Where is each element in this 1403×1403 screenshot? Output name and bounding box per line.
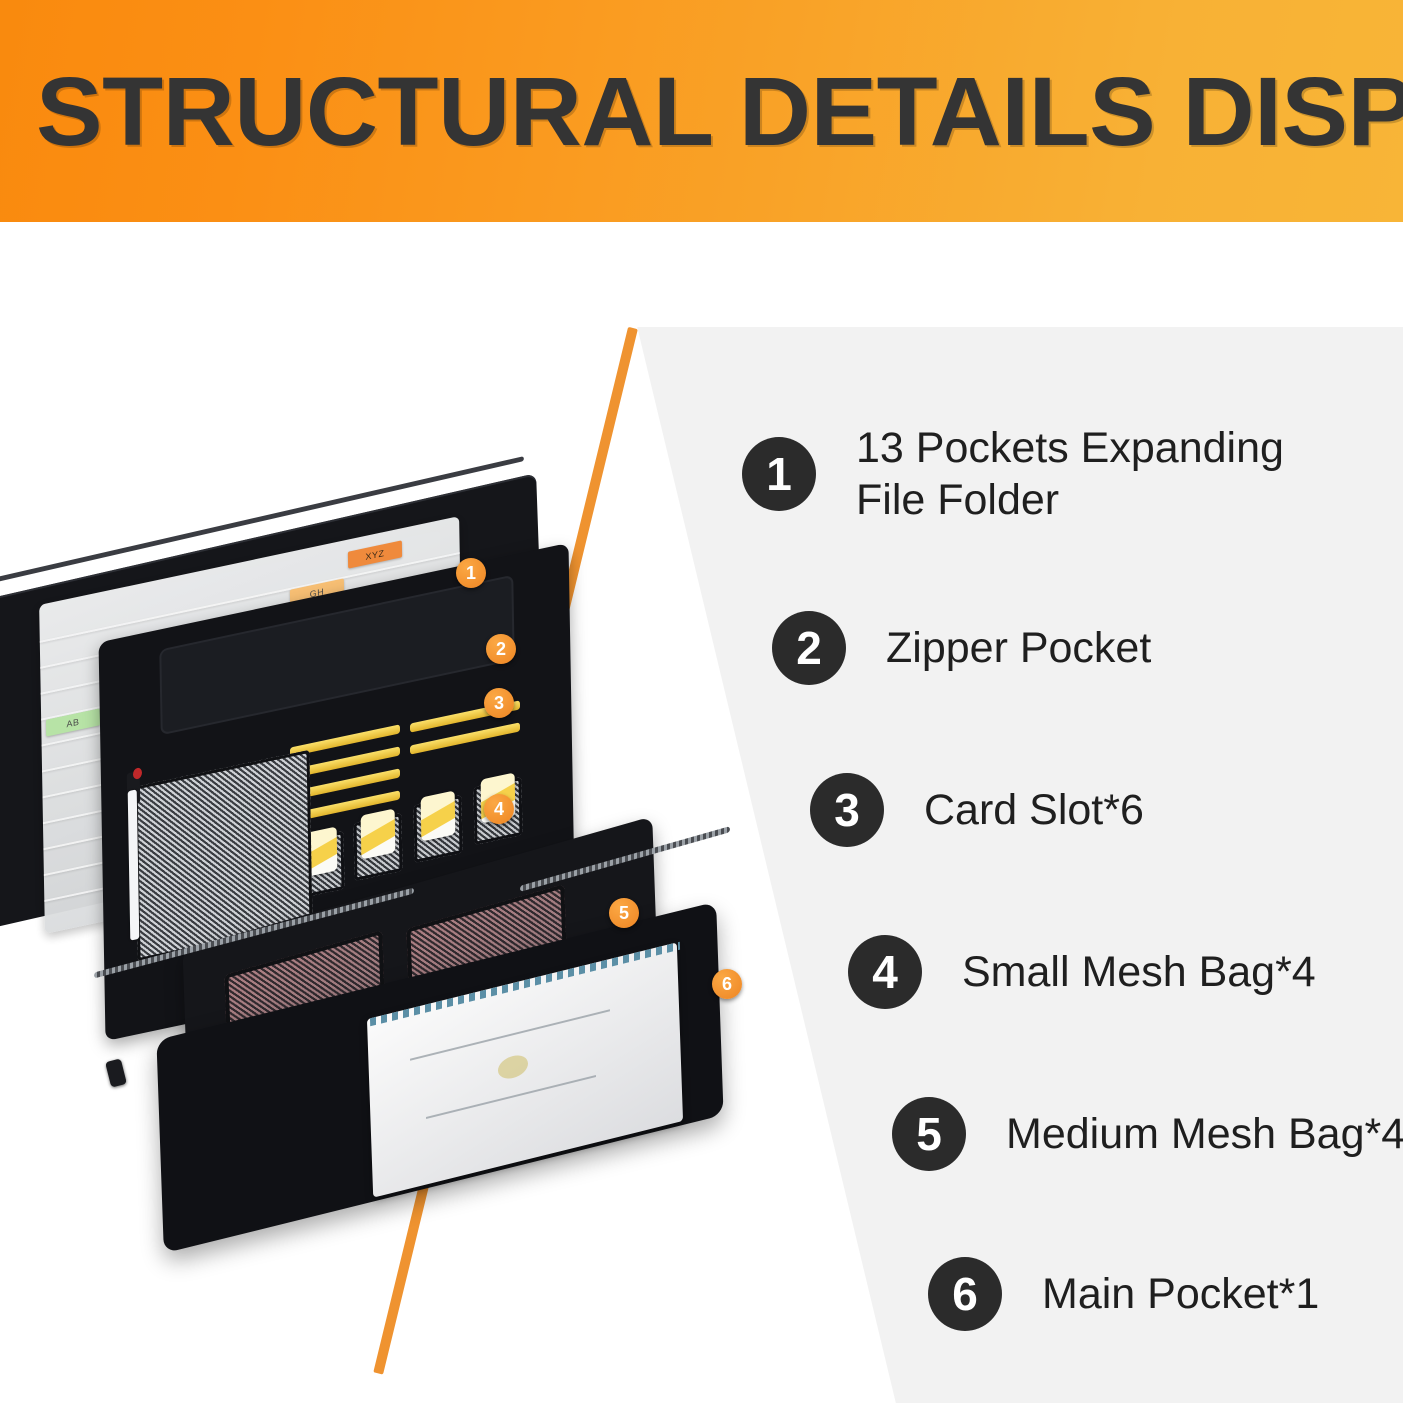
photo-callout-3: 3 bbox=[484, 688, 514, 718]
legend-label-1: 13 Pockets Expanding File Folder bbox=[856, 422, 1284, 527]
legend-item-5[interactable]: 5 Medium Mesh Bag*4 bbox=[892, 1097, 1403, 1171]
legend-label-1-line1: 13 Pockets Expanding bbox=[856, 424, 1284, 472]
photo-callout-6: 6 bbox=[712, 969, 742, 999]
card-in-slot bbox=[361, 808, 396, 859]
legend-badge-3: 3 bbox=[810, 773, 884, 847]
legend-label-1-line2: File Folder bbox=[856, 474, 1284, 526]
legend-item-6[interactable]: 6 Main Pocket*1 bbox=[928, 1257, 1319, 1331]
legend-badge-2: 2 bbox=[772, 611, 846, 685]
photo-callout-1: 1 bbox=[456, 558, 486, 588]
infographic-root: STRUCTURAL DETAILS DISPLAY bbox=[0, 0, 1403, 1403]
legend-item-1[interactable]: 1 13 Pockets Expanding File Folder bbox=[742, 422, 1284, 527]
legend-badge-1: 1 bbox=[742, 437, 816, 511]
legend-badge-6: 6 bbox=[928, 1257, 1002, 1331]
legend-label-6: Main Pocket*1 bbox=[1042, 1268, 1319, 1320]
legend-item-2[interactable]: 2 Zipper Pocket bbox=[772, 611, 1151, 685]
legend-item-4[interactable]: 4 Small Mesh Bag*4 bbox=[848, 935, 1316, 1009]
legend-label-5: Medium Mesh Bag*4 bbox=[1006, 1108, 1403, 1160]
header-banner: STRUCTURAL DETAILS DISPLAY bbox=[0, 0, 1403, 222]
photo-callout-2: 2 bbox=[486, 634, 516, 664]
photo-callout-4: 4 bbox=[484, 794, 514, 824]
zipper-pull bbox=[105, 1058, 127, 1087]
product-photo: AB CD EF IJ GH XYZ bbox=[0, 500, 840, 1160]
photo-callout-5: 5 bbox=[609, 898, 639, 928]
page-title: STRUCTURAL DETAILS DISPLAY bbox=[36, 63, 1403, 160]
legend-item-3[interactable]: 3 Card Slot*6 bbox=[810, 773, 1144, 847]
document-organizer-case: AB CD EF IJ GH XYZ bbox=[0, 500, 820, 1140]
card-in-slot bbox=[421, 790, 456, 841]
legend-badge-4: 4 bbox=[848, 935, 922, 1009]
legend-label-2: Zipper Pocket bbox=[886, 622, 1151, 674]
legend-badge-5: 5 bbox=[892, 1097, 966, 1171]
legend-label-3: Card Slot*6 bbox=[924, 784, 1144, 836]
legend-label-4: Small Mesh Bag*4 bbox=[962, 946, 1316, 998]
